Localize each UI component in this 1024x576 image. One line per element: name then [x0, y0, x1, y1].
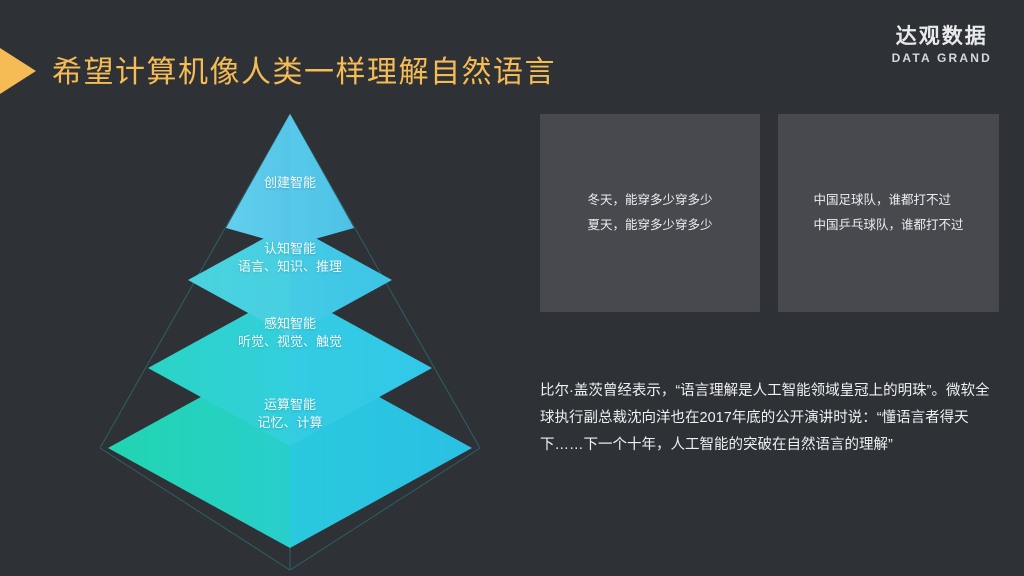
quote-paragraph: 比尔·盖茨曾经表示，“语言理解是人工智能领域皇冠上的明珠”。微软全球执行副总裁沈… — [540, 378, 1002, 458]
pyramid-layer-create — [226, 114, 354, 246]
page-title: 希望计算机像人类一样理解自然语言 — [52, 47, 556, 91]
example-line: 中国乒乓球队，谁都打不过 — [813, 213, 963, 238]
example-box-sports: 中国足球队，谁都打不过 中国乒乓球队，谁都打不过 — [778, 114, 999, 312]
intelligence-pyramid-diagram: 创建智能 认知智能 语言、知识、推理 感知智能 听觉、视觉、触觉 运算智能 记忆… — [60, 100, 530, 570]
example-line: 中国足球队，谁都打不过 — [813, 188, 963, 213]
title-marker-icon — [0, 48, 36, 94]
example-box-sports-text: 中国足球队，谁都打不过 中国乒乓球队，谁都打不过 — [813, 188, 963, 238]
example-box-clothing: 冬天，能穿多少穿多少 夏天，能穿多少穿多少 — [540, 114, 760, 312]
logo-name-en: DATA GRAND — [892, 52, 992, 64]
example-box-clothing-text: 冬天，能穿多少穿多少 夏天，能穿多少穿多少 — [587, 188, 712, 238]
example-line: 冬天，能穿多少穿多少 — [587, 188, 712, 213]
pyramid-svg — [60, 100, 530, 570]
example-line: 夏天，能穿多少穿多少 — [587, 213, 712, 238]
presentation-slide: 希望计算机像人类一样理解自然语言 达观数据 DATA GRAND — [0, 0, 1024, 576]
brand-logo: 达观数据 DATA GRAND — [892, 26, 992, 64]
logo-name-cn: 达观数据 — [892, 26, 992, 47]
